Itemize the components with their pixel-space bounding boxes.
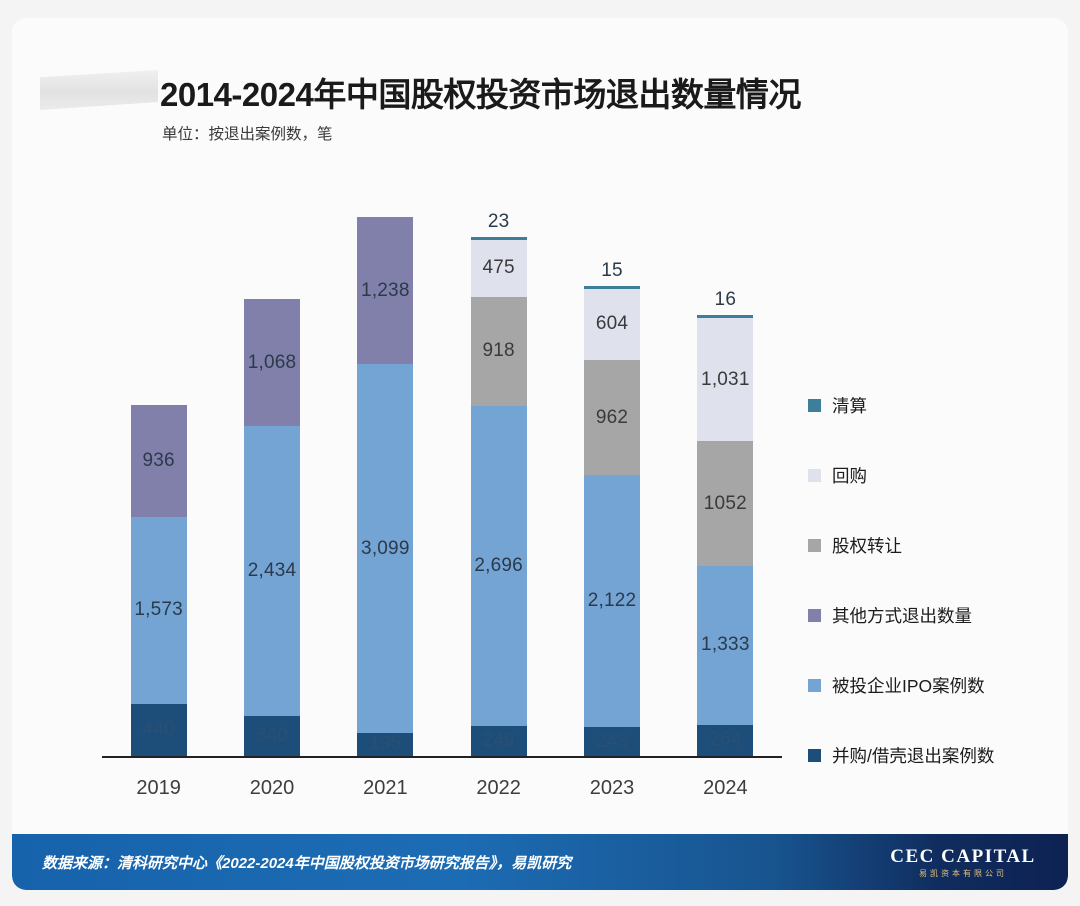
bar-value-label: 2,434 — [248, 560, 297, 582]
bar-value-label: 1,333 — [701, 634, 750, 656]
stacked-bar-chart: 4401,57393620193402,4341,06820201953,099… — [102, 193, 782, 758]
bar-value-label: 195 — [369, 733, 401, 755]
x-axis-tick-2023: 2023 — [590, 777, 635, 800]
bar-value-label: 264 — [709, 729, 741, 751]
chart-subtitle: 单位：按退出案例数，笔 — [162, 122, 333, 144]
bar-segment-2022-ma_backdoor[interactable]: 249 — [471, 726, 527, 756]
legend-label: 并购/借壳退出案例数 — [832, 743, 994, 768]
legend-label: 被投企业IPO案例数 — [832, 673, 985, 698]
bar-segment-2019-ipo[interactable]: 1,573 — [131, 517, 187, 704]
x-axis-tick-2020: 2020 — [250, 777, 295, 800]
bar-segment-2024-ipo[interactable]: 1,333 — [697, 566, 753, 725]
bar-value-label: 1,068 — [248, 352, 297, 374]
bar-segment-2023-buyback[interactable]: 604 — [584, 289, 640, 361]
bar-segment-2022-equity_transfer[interactable]: 918 — [471, 297, 527, 406]
bar-group-2019[interactable]: 4401,5739362019 — [131, 405, 187, 756]
x-axis-tick-2019: 2019 — [136, 777, 181, 800]
chart-legend: 清算回购股权转让其他方式退出数量被投企业IPO案例数并购/借壳退出案例数 — [808, 370, 1058, 790]
bar-segment-2024-equity_transfer[interactable]: 1052 — [697, 441, 753, 566]
legend-swatch-icon — [808, 679, 821, 692]
x-axis-line — [102, 756, 782, 758]
x-axis-tick-2022: 2022 — [476, 777, 521, 800]
legend-swatch-icon — [808, 609, 821, 622]
bar-group-2021[interactable]: 1953,0991,2382021 — [357, 217, 413, 756]
x-axis-tick-2024: 2024 — [703, 777, 748, 800]
bar-value-label: 15 — [601, 260, 623, 282]
bar-group-2020[interactable]: 3402,4341,0682020 — [244, 299, 300, 756]
bar-segment-2020-other_exit[interactable]: 1,068 — [244, 299, 300, 426]
bar-value-label: 1,573 — [134, 599, 183, 621]
bar-value-label: 340 — [256, 725, 288, 747]
chart-card: 2014-2024年中国股权投资市场退出数量情况 单位：按退出案例数，笔 440… — [12, 18, 1068, 890]
bar-segment-2023-equity_transfer[interactable]: 962 — [584, 360, 640, 474]
bar-segment-2021-ma_backdoor[interactable]: 195 — [357, 733, 413, 756]
bar-value-label: 936 — [143, 450, 175, 472]
bar-segment-2024-buyback[interactable]: 1,031 — [697, 318, 753, 441]
x-axis-tick-2021: 2021 — [363, 777, 408, 800]
decorative-ribbon — [40, 70, 158, 110]
legend-swatch-icon — [808, 469, 821, 482]
bar-value-label: 475 — [483, 257, 515, 279]
data-source-text: 数据来源：清科研究中心《2022-2024年中国股权投资市场研究报告》，易凯研究 — [42, 852, 571, 873]
legend-swatch-icon — [808, 539, 821, 552]
legend-item-liquidation[interactable]: 清算 — [808, 370, 1058, 440]
bar-segment-2022-buyback[interactable]: 475 — [471, 240, 527, 296]
bar-value-label: 23 — [488, 211, 510, 233]
bar-segment-2023-ipo[interactable]: 2,122 — [584, 475, 640, 727]
legend-item-equity-transfer[interactable]: 股权转让 — [808, 510, 1058, 580]
legend-item-other-exit[interactable]: 其他方式退出数量 — [808, 580, 1058, 650]
bar-group-2023[interactable]: 2432,122962604152023 — [584, 286, 640, 756]
legend-label: 股权转让 — [832, 533, 902, 558]
legend-label: 清算 — [832, 393, 867, 418]
bar-segment-2019-other_exit[interactable]: 936 — [131, 405, 187, 516]
bar-group-2024[interactable]: 2641,33310521,031162024 — [697, 315, 753, 756]
bar-segment-2019-ma_backdoor[interactable]: 440 — [131, 704, 187, 756]
bar-segment-2020-ma_backdoor[interactable]: 340 — [244, 716, 300, 756]
bar-value-label: 1,238 — [361, 280, 410, 302]
bar-value-label: 3,099 — [361, 538, 410, 560]
legend-swatch-icon — [808, 399, 821, 412]
bar-segment-2022-ipo[interactable]: 2,696 — [471, 406, 527, 727]
cec-capital-logo: CEC CAPITAL 易凯资本有限公司 — [868, 834, 1058, 890]
bar-value-label: 1052 — [704, 493, 747, 515]
bar-value-label: 604 — [596, 313, 628, 335]
bar-segment-2023-liquidation[interactable]: 15 — [584, 286, 640, 289]
bar-segment-2021-ipo[interactable]: 3,099 — [357, 364, 413, 733]
bar-value-label: 243 — [596, 731, 628, 753]
bar-value-label: 1,031 — [701, 369, 750, 391]
bar-segment-2023-ma_backdoor[interactable]: 243 — [584, 727, 640, 756]
bar-segment-2021-other_exit[interactable]: 1,238 — [357, 217, 413, 364]
logo-subtitle: 易凯资本有限公司 — [919, 870, 1007, 878]
bar-value-label: 2,122 — [588, 590, 637, 612]
bar-segment-2024-ma_backdoor[interactable]: 264 — [697, 725, 753, 756]
legend-item-ma-backdoor[interactable]: 并购/借壳退出案例数 — [808, 720, 1058, 790]
legend-item-buyback[interactable]: 回购 — [808, 440, 1058, 510]
bar-segment-2020-ipo[interactable]: 2,434 — [244, 426, 300, 715]
bar-segment-2024-liquidation[interactable]: 16 — [697, 315, 753, 318]
bar-value-label: 962 — [596, 407, 628, 429]
footer-bar: 数据来源：清科研究中心《2022-2024年中国股权投资市场研究报告》，易凯研究… — [12, 834, 1068, 890]
legend-swatch-icon — [808, 749, 821, 762]
logo-wordmark: CEC CAPITAL — [890, 847, 1035, 866]
bar-value-label: 2,696 — [474, 555, 523, 577]
legend-label: 其他方式退出数量 — [832, 603, 972, 628]
legend-label: 回购 — [832, 463, 867, 488]
page-title: 2014-2024年中国股权投资市场退出数量情况 — [160, 68, 801, 116]
bar-value-label: 440 — [143, 719, 175, 741]
bar-group-2022[interactable]: 2492,696918475232022 — [471, 237, 527, 756]
bar-value-label: 918 — [483, 340, 515, 362]
legend-item-ipo[interactable]: 被投企业IPO案例数 — [808, 650, 1058, 720]
bar-value-label: 249 — [483, 730, 515, 752]
bar-segment-2022-liquidation[interactable]: 23 — [471, 237, 527, 240]
bar-value-label: 16 — [715, 289, 737, 311]
